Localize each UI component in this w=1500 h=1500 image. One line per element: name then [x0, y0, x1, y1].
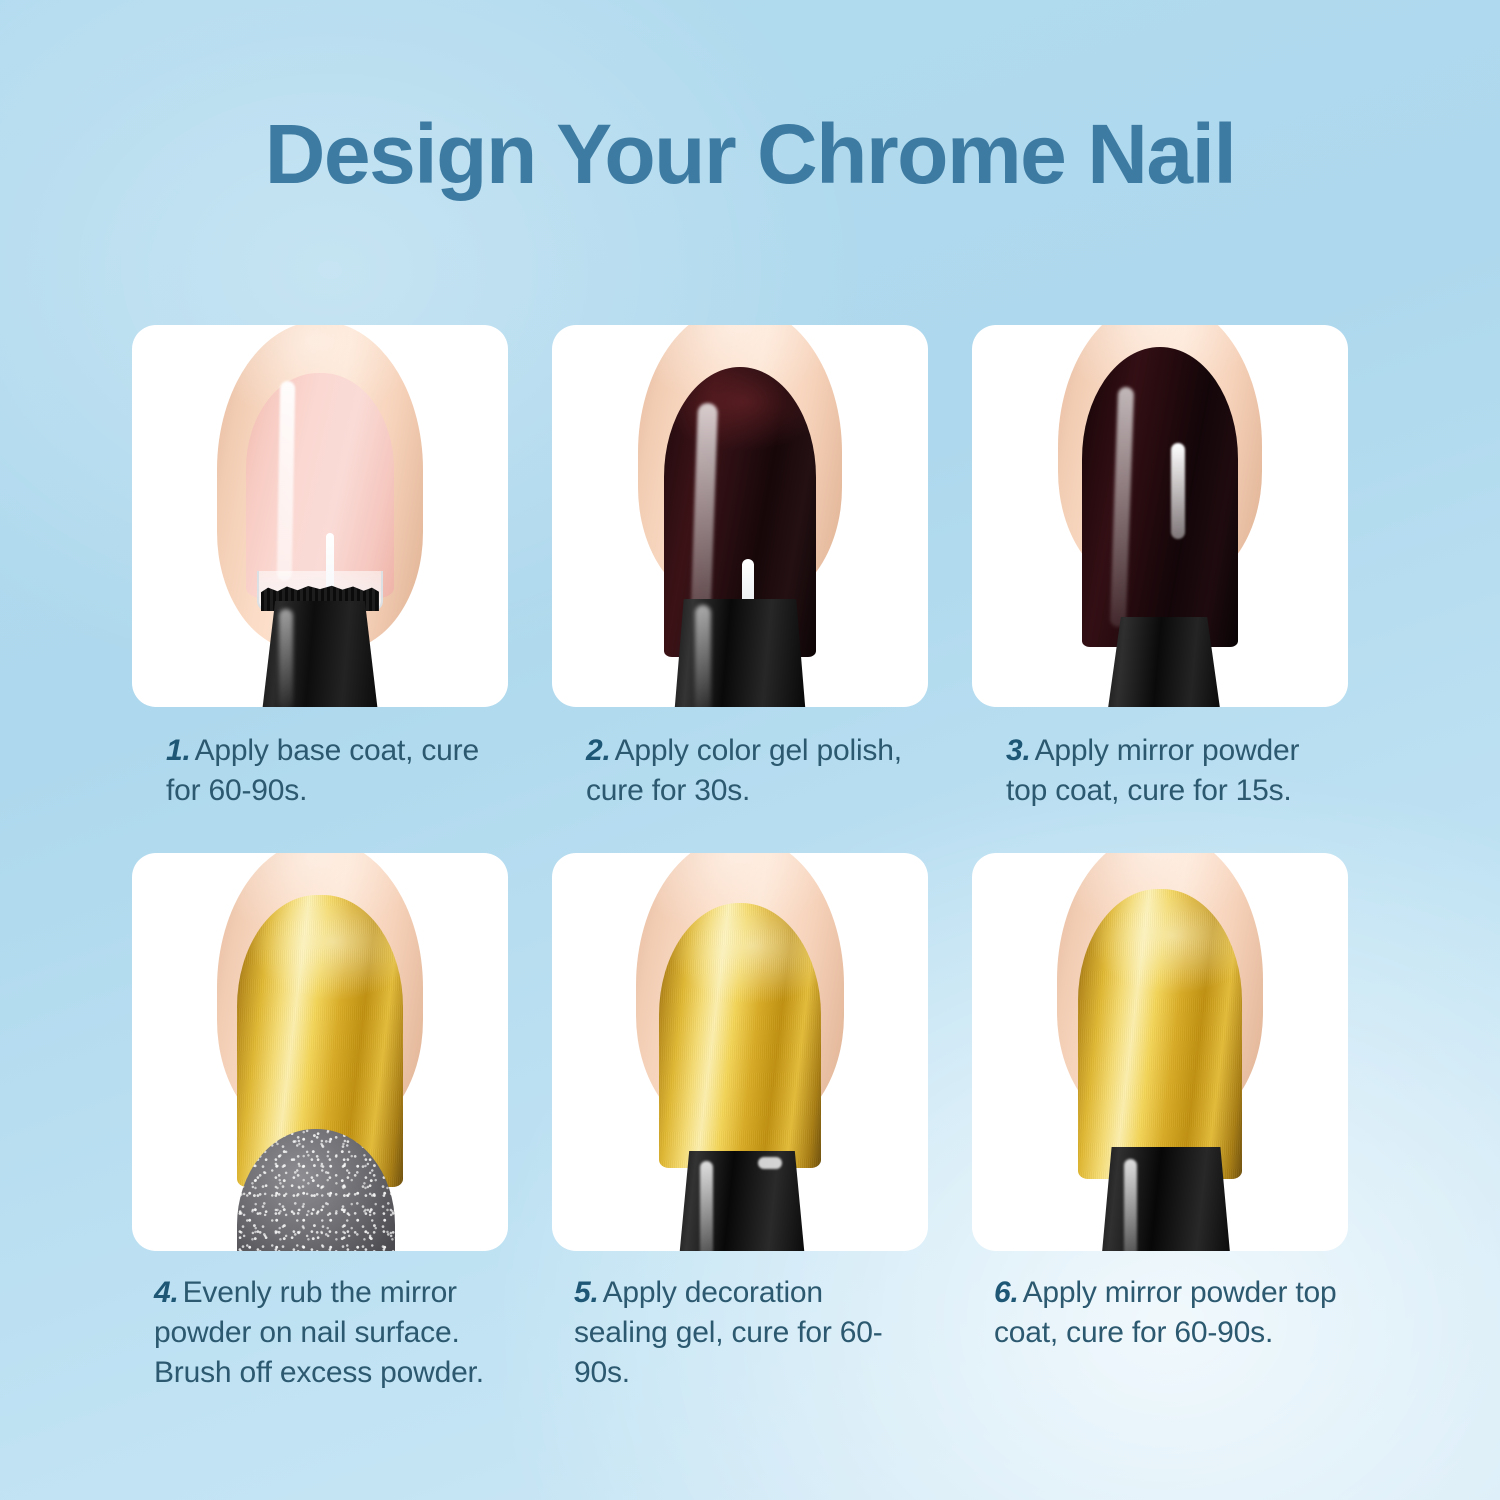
nail-illustration-base-coat [132, 325, 508, 707]
step-number-6: 6. [994, 1276, 1019, 1309]
step-text-2: Apply color gel polish, cure for 30s. [586, 734, 902, 807]
step-text-1: Apply base coat, cure for 60-90s. [166, 734, 479, 807]
step-card-4: 4.Evenly rub the mirror powder on nail s… [132, 853, 508, 1393]
step-card-6: 6.Apply mirror powder top coat, cure for… [972, 853, 1348, 1393]
step-number-2: 2. [586, 734, 611, 767]
poster-root: Design Your Chrome Nail 1.Apply base coa… [0, 0, 1500, 1500]
step-card-1: 1.Apply base coat, cure for 60-90s. [132, 325, 508, 811]
nail-gloss-streak [1171, 443, 1185, 539]
dark-gel-nail-plate [1082, 347, 1238, 647]
step-number-3: 3. [1006, 734, 1031, 767]
step-card-3: 3.Apply mirror powder top coat, cure for… [972, 325, 1348, 811]
step-image-4 [132, 853, 508, 1251]
brush-handle-icon [673, 599, 807, 707]
nail-illustration-mirror-top-coat [972, 325, 1348, 707]
step-text-6: Apply mirror powder top coat, cure for 6… [994, 1276, 1336, 1349]
step-card-2: 2.Apply color gel polish, cure for 30s. [552, 325, 928, 811]
step-number-4: 4. [154, 1276, 179, 1309]
step-image-1 [132, 325, 508, 707]
step-card-5: 5.Apply decoration sealing gel, cure for… [552, 853, 928, 1393]
step-image-3 [972, 325, 1348, 707]
step-caption-4: 4.Evenly rub the mirror powder on nail s… [132, 1273, 508, 1393]
brush-handle-icon [261, 601, 379, 707]
step-caption-5: 5.Apply decoration sealing gel, cure for… [552, 1273, 928, 1393]
step-number-1: 1. [166, 734, 191, 767]
step-text-3: Apply mirror powder top coat, cure for 1… [1006, 734, 1299, 807]
step-image-2 [552, 325, 928, 707]
natural-nail-plate [246, 373, 394, 598]
nail-illustration-final-top-coat [972, 853, 1348, 1251]
step-text-5: Apply decoration sealing gel, cure for 6… [574, 1276, 883, 1389]
nail-illustration-color-gel [552, 325, 928, 707]
steps-grid-row-1: 1.Apply base coat, cure for 60-90s. 2.Ap… [132, 325, 1368, 811]
brush-handle-icon [676, 1151, 808, 1251]
brush-handle-icon [1098, 1147, 1234, 1251]
gold-chrome-nail-plate [1078, 889, 1242, 1179]
nail-illustration-sealing-gel [552, 853, 928, 1251]
step-image-5 [552, 853, 928, 1251]
brush-handle-icon [1104, 617, 1224, 707]
step-caption-3: 3.Apply mirror powder top coat, cure for… [972, 731, 1348, 811]
step-caption-2: 2.Apply color gel polish, cure for 30s. [552, 731, 928, 811]
step-text-4: Evenly rub the mirror powder on nail sur… [154, 1276, 484, 1389]
nail-illustration-rub-powder [132, 853, 508, 1251]
steps-grid-row-2: 4.Evenly rub the mirror powder on nail s… [132, 853, 1368, 1393]
gold-chrome-nail-plate [659, 903, 821, 1168]
step-number-5: 5. [574, 1276, 599, 1309]
page-title: Design Your Chrome Nail [0, 112, 1500, 196]
step-caption-6: 6.Apply mirror powder top coat, cure for… [972, 1273, 1348, 1353]
step-caption-1: 1.Apply base coat, cure for 60-90s. [132, 731, 508, 811]
step-image-6 [972, 853, 1348, 1251]
